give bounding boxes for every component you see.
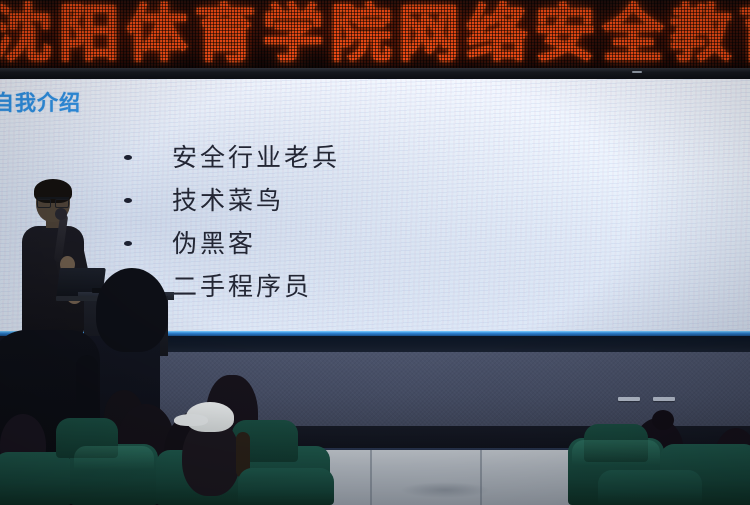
auditorium-photo-scene: 沈阳体育学院网络安全教育培 自我介绍 安全行业老兵 技术菜鸟 伪黑客 二手程序员 bbox=[0, 0, 750, 505]
led-bezel-indicator-dot bbox=[632, 71, 642, 73]
audience-head bbox=[96, 268, 168, 352]
wall-marker-right bbox=[653, 397, 675, 401]
slide-bullet-item: 安全行业老兵 bbox=[118, 136, 588, 179]
floor-smudge bbox=[400, 482, 490, 498]
slide-bullet-item: 二手程序员 bbox=[118, 265, 588, 308]
auditorium-seat bbox=[0, 452, 72, 505]
auditorium-seat-front bbox=[238, 468, 334, 505]
wall-marker-left bbox=[618, 397, 640, 401]
auditorium-seat-front bbox=[598, 470, 702, 505]
audience-hair-bun bbox=[652, 410, 674, 430]
white-cap-brim bbox=[174, 414, 208, 426]
floor-seam bbox=[370, 450, 372, 505]
slide-title: 自我介绍 bbox=[0, 87, 81, 117]
glasses-icon bbox=[37, 197, 69, 206]
slide-bullet-list: 安全行业老兵 技术菜鸟 伪黑客 二手程序员 bbox=[118, 136, 588, 308]
microphone-head-icon bbox=[55, 208, 67, 220]
led-banner: 沈阳体育学院网络安全教育培 bbox=[0, 0, 750, 72]
slide-bullet-item: 技术菜鸟 bbox=[118, 179, 588, 222]
led-banner-text: 沈阳体育学院网络安全教育培 bbox=[0, 0, 750, 70]
slide-bullet-item: 伪黑客 bbox=[118, 222, 588, 265]
seat-highlight bbox=[74, 446, 154, 480]
